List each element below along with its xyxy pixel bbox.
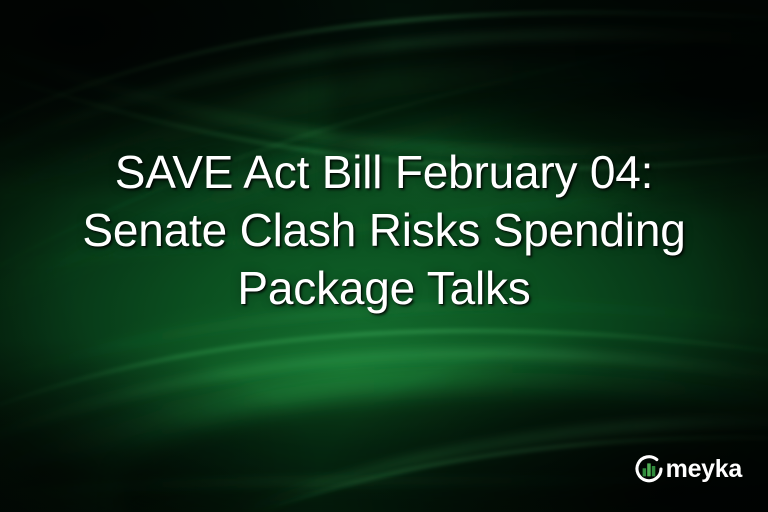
headline-title: SAVE Act Bill February 04: Senate Clash … <box>0 143 768 317</box>
brand-wordmark: meyka <box>666 457 742 482</box>
meyka-bar-chart-circle-icon <box>633 453 665 485</box>
article-banner: SAVE Act Bill February 04: Senate Clash … <box>0 0 768 512</box>
brand-logo: meyka <box>633 452 742 486</box>
